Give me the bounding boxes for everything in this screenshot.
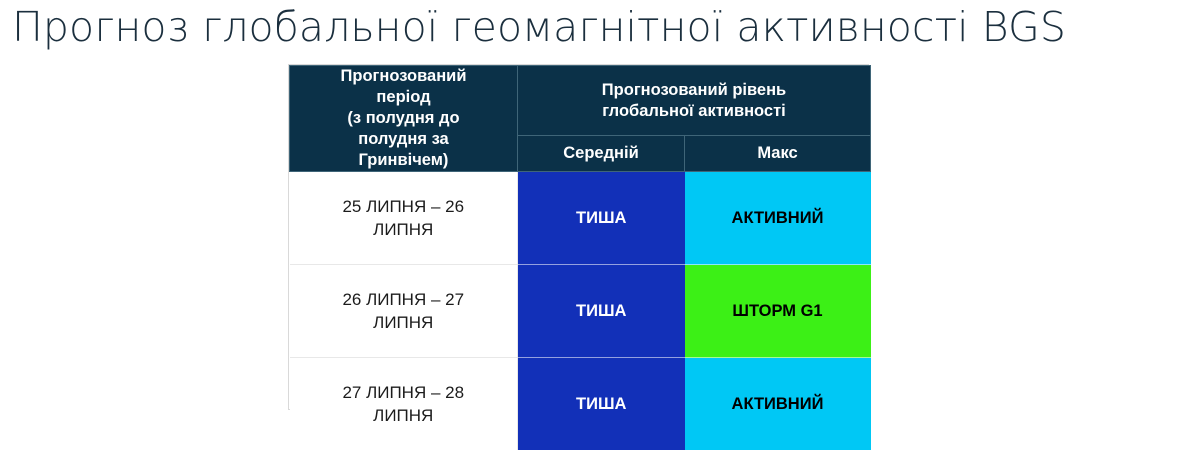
cell-mean-level: ТИША [518, 265, 685, 358]
table-header-row-primary: Прогнозований період (з полудня до полуд… [290, 66, 871, 136]
cell-forecast-period-line-2: ЛИПНЯ [290, 311, 518, 334]
cell-forecast-period-line-2: ЛИПНЯ [290, 218, 518, 241]
cell-max-level: АКТИВНИЙ [685, 358, 871, 450]
column-header-period: Прогнозований період (з полудня до полуд… [290, 66, 518, 172]
column-header-period-line-1: Прогнозований [290, 66, 517, 87]
page-root: Прогноз глобальної геомагнітної активнос… [0, 0, 1200, 423]
column-header-mean: Середній [518, 136, 685, 172]
cell-mean-level: ТИША [518, 172, 685, 265]
cell-mean-level: ТИША [518, 358, 685, 450]
table-row: 27 ЛИПНЯ – 28 ЛИПНЯ ТИША АКТИВНИЙ [290, 358, 871, 450]
geomagnetic-forecast-table: Прогнозований період (з полудня до полуд… [289, 65, 871, 450]
column-header-activity-level-line-2: глобальної активності [518, 101, 870, 122]
table-body: 25 ЛИПНЯ – 26 ЛИПНЯ ТИША АКТИВНИЙ 26 ЛИП… [290, 172, 871, 450]
cell-forecast-period: 25 ЛИПНЯ – 26 ЛИПНЯ [290, 172, 518, 265]
cell-forecast-period-line-1: 27 ЛИПНЯ – 28 [290, 381, 518, 404]
forecast-table-container: Прогнозований період (з полудня до полуд… [288, 64, 869, 410]
cell-forecast-period-line-1: 26 ЛИПНЯ – 27 [290, 288, 518, 311]
cell-forecast-period-line-1: 25 ЛИПНЯ – 26 [290, 195, 518, 218]
cell-max-level: ШТОРМ G1 [685, 265, 871, 358]
table-header: Прогнозований період (з полудня до полуд… [290, 66, 871, 172]
column-header-activity-level-line-1: Прогнозований рівень [518, 80, 870, 101]
cell-forecast-period: 26 ЛИПНЯ – 27 ЛИПНЯ [290, 265, 518, 358]
page-title: Прогноз глобальної геомагнітної активнос… [12, 1, 1192, 55]
cell-forecast-period: 27 ЛИПНЯ – 28 ЛИПНЯ [290, 358, 518, 450]
table-row: 25 ЛИПНЯ – 26 ЛИПНЯ ТИША АКТИВНИЙ [290, 172, 871, 265]
column-header-max: Макс [685, 136, 871, 172]
column-header-period-line-2: період [290, 87, 517, 108]
column-header-period-line-4: полудня за [290, 129, 517, 150]
column-header-activity-level-group: Прогнозований рівень глобальної активнос… [518, 66, 871, 136]
table-row: 26 ЛИПНЯ – 27 ЛИПНЯ ТИША ШТОРМ G1 [290, 265, 871, 358]
cell-max-level: АКТИВНИЙ [685, 172, 871, 265]
cell-forecast-period-line-2: ЛИПНЯ [290, 404, 518, 427]
column-header-period-line-5: Гринвічем) [290, 150, 517, 171]
column-header-period-line-3: (з полудня до [290, 108, 517, 129]
